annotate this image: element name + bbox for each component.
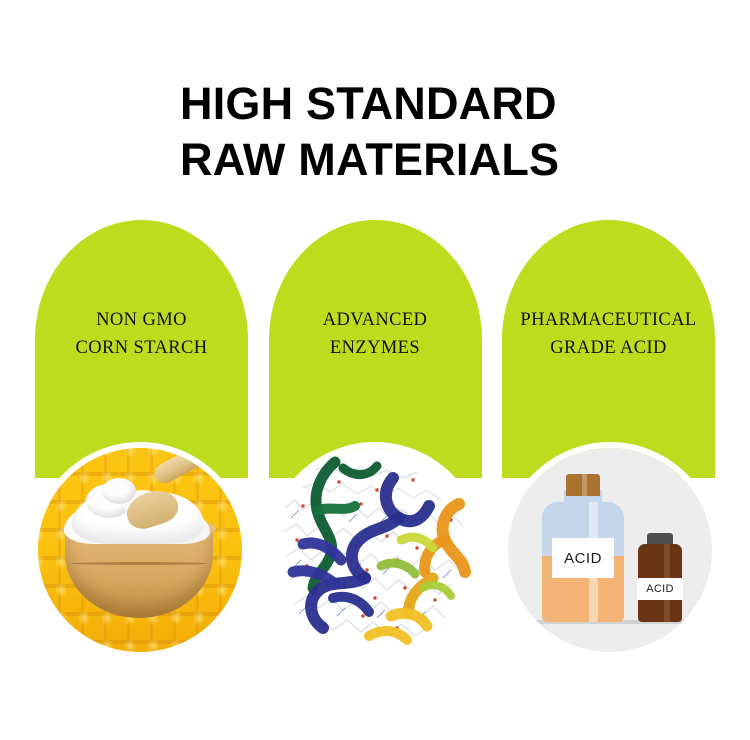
- card-pharmaceutical-grade-acid[interactable]: PHARMACEUTICAL GRADE ACID: [502, 220, 715, 478]
- large-bottle-cork-cap: [566, 474, 600, 496]
- enzyme-protein-structure-image: [273, 448, 477, 652]
- raw-material-card-list: NON GMO CORN STARCH ADVANCED ENZYMES PHA…: [35, 220, 715, 478]
- small-bottle-label: ACID: [637, 578, 683, 600]
- card-label-line-2: GRADE ACID: [502, 334, 715, 362]
- small-bottle-cap: [647, 533, 673, 544]
- card-label-advanced-enzymes: ADVANCED ENZYMES: [269, 306, 482, 362]
- corn-starch-lump: [102, 478, 136, 504]
- card-advanced-enzymes[interactable]: ADVANCED ENZYMES: [269, 220, 482, 478]
- page-title-line-2: RAW MATERIALS: [180, 132, 700, 188]
- card-label-line-2: CORN STARCH: [35, 334, 248, 362]
- card-label-line-2: ENZYMES: [269, 334, 482, 362]
- large-bottle-label: ACID: [552, 538, 614, 578]
- card-label-non-gmo-corn-starch: NON GMO CORN STARCH: [35, 306, 248, 362]
- page-title: HIGH STANDARD RAW MATERIALS: [180, 76, 700, 188]
- acid-bottles-image: ACID ACID: [508, 448, 712, 652]
- card-non-gmo-corn-starch[interactable]: NON GMO CORN STARCH: [35, 220, 248, 478]
- corn-starch-bowl-image: [38, 448, 242, 652]
- page-title-line-1: HIGH STANDARD: [180, 76, 700, 132]
- cap-highlight: [582, 474, 587, 496]
- card-label-line-1: ADVANCED: [323, 310, 428, 330]
- card-label-line-1: NON GMO: [96, 310, 187, 330]
- protein-ribbon-diagram: [273, 448, 477, 652]
- card-label-line-1: PHARMACEUTICAL: [520, 310, 696, 330]
- poster-canvas: HIGH STANDARD RAW MATERIALS NON GMO CORN…: [0, 0, 750, 740]
- card-label-pharmaceutical-grade-acid: PHARMACEUTICAL GRADE ACID: [502, 306, 715, 362]
